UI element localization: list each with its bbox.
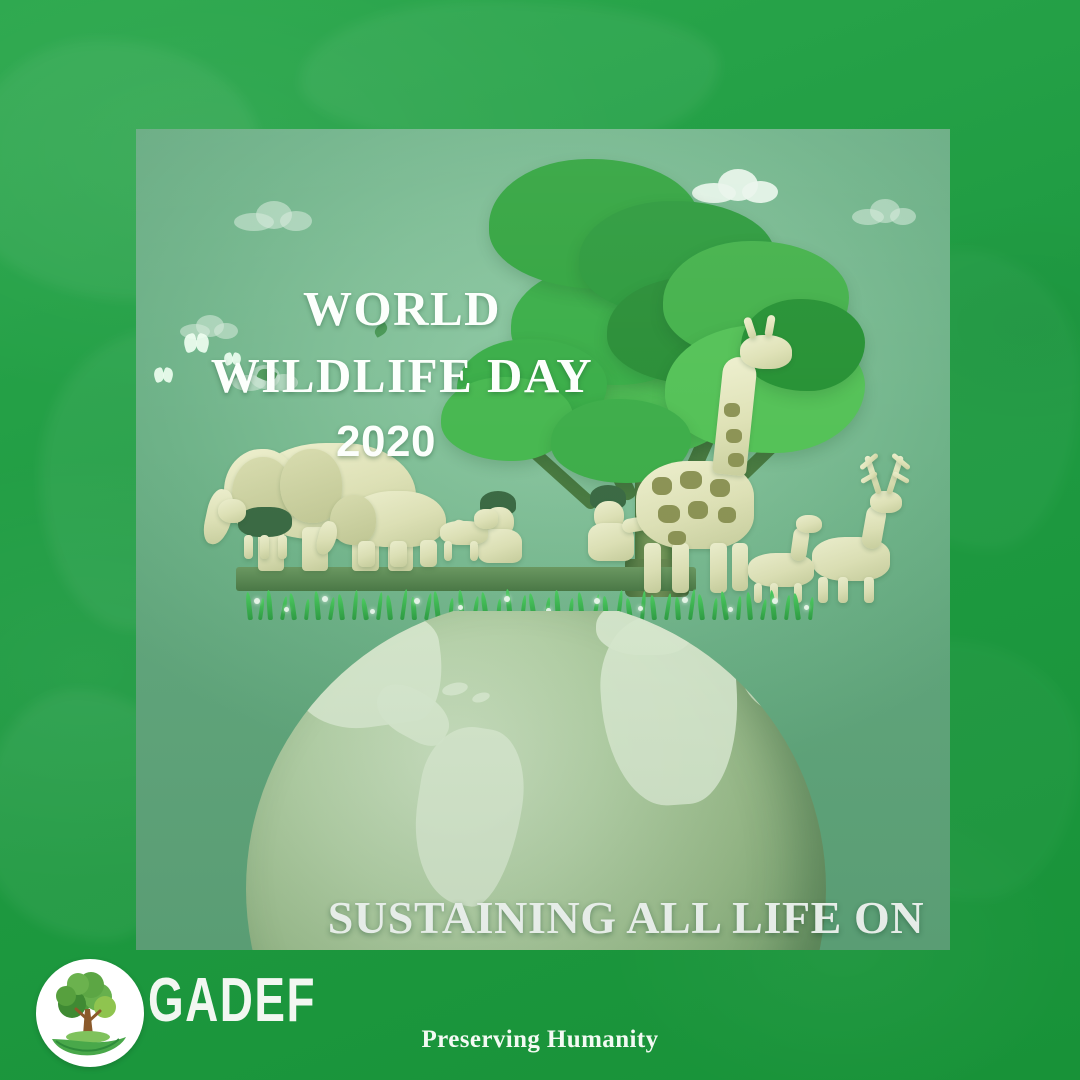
flower-icon <box>728 607 733 612</box>
world-map-watermark <box>300 0 720 150</box>
island <box>441 680 469 697</box>
flower-icon <box>772 598 778 604</box>
flower-icon <box>284 607 289 612</box>
continent-asia <box>738 603 826 713</box>
flower-icon <box>254 598 260 604</box>
brand-name: GADEF <box>148 968 316 1033</box>
headline-year: 2020 <box>266 417 506 467</box>
continent-south-america <box>403 720 534 912</box>
island <box>471 691 491 705</box>
cloud-icon <box>234 201 312 231</box>
footer-tagline: Preserving Humanity <box>0 1026 1080 1054</box>
flower-icon <box>682 597 688 603</box>
flower-icon <box>322 596 328 602</box>
artwork-panel: WORLD WILDLIFE DAY 2020 SUSTAINING ALL L… <box>136 129 950 950</box>
flower-icon <box>414 598 420 604</box>
flower-icon <box>458 605 463 610</box>
flower-icon <box>804 605 809 610</box>
poster-root: WORLD WILDLIFE DAY 2020 SUSTAINING ALL L… <box>0 0 1080 1080</box>
headline-line-1: WORLD <box>232 284 572 333</box>
poster-tagline: SUSTAINING ALL LIFE ON EARTH <box>246 889 950 950</box>
headline-line-2: WILDLIFE DAY <box>162 351 642 400</box>
flower-icon <box>504 596 510 602</box>
flower-icon <box>594 598 600 604</box>
flower-icon <box>638 606 643 611</box>
footer-bar: GADEF <box>0 950 1080 1080</box>
